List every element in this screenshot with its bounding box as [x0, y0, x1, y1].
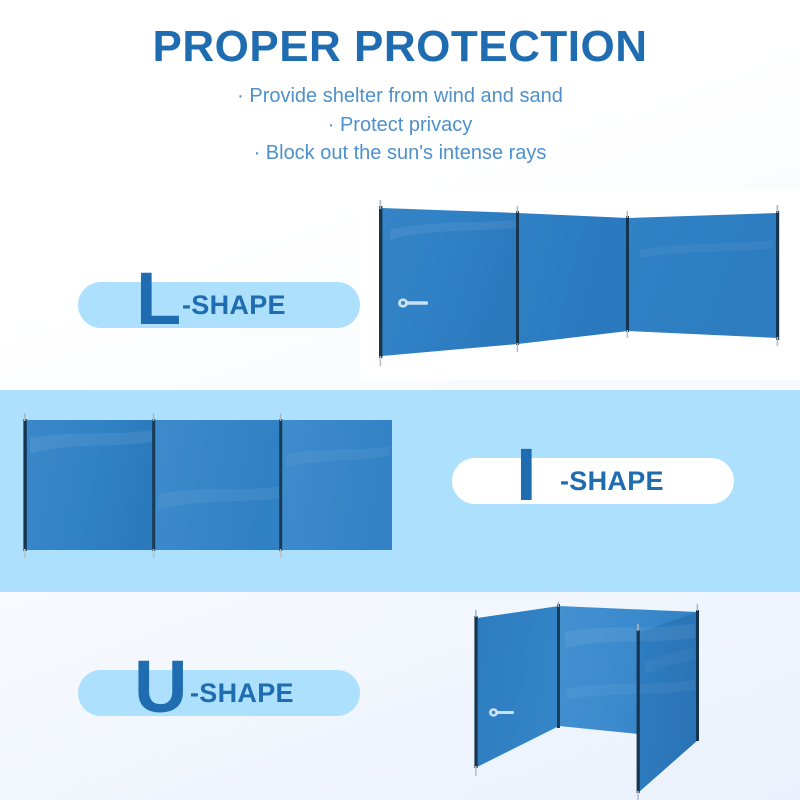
feature-bullets: · Provide shelter from wind and sand · P… [0, 70, 800, 167]
panel-right [628, 213, 778, 338]
product-image-i-shape [8, 402, 408, 580]
badge-l-shape-text: L -SHAPE [138, 290, 286, 321]
shape-letter-l: L [136, 262, 181, 336]
pole [516, 211, 519, 345]
badge-u-shape-text: U -SHAPE [138, 678, 294, 709]
shape-letter-u: U [134, 650, 187, 724]
pole [23, 419, 26, 551]
pole [776, 211, 779, 340]
section-l-shape: L -SHAPE [0, 190, 800, 390]
shape-suffix-u: -SHAPE [190, 678, 294, 709]
product-image-u-shape [455, 602, 800, 800]
pole [696, 610, 699, 741]
panel-left [477, 606, 559, 767]
bullet-item: · Block out the sun's intense rays [0, 139, 800, 167]
pole [557, 604, 560, 728]
shape-letter-i: I [516, 438, 537, 512]
product-image-l-shape [360, 190, 800, 380]
shape-suffix-i: -SHAPE [560, 466, 664, 497]
page-title: PROPER PROTECTION [0, 0, 800, 70]
pole [626, 216, 629, 332]
bullet-item: · Provide shelter from wind and sand [0, 82, 800, 110]
infographic-page: PROPER PROTECTION · Provide shelter from… [0, 0, 800, 800]
panel-right [282, 420, 392, 550]
section-u-shape: U -SHAPE [0, 592, 800, 800]
badge-i-shape-text: I -SHAPE [512, 466, 664, 497]
pole [637, 630, 640, 793]
pole [474, 616, 477, 768]
badge-u-shape: U -SHAPE [78, 670, 360, 716]
pole [279, 419, 282, 551]
pole [152, 419, 155, 551]
panel-center [155, 420, 281, 550]
section-i-shape: I -SHAPE [0, 390, 800, 592]
header: PROPER PROTECTION · Provide shelter from… [0, 0, 800, 190]
bullet-item: · Protect privacy [0, 111, 800, 139]
badge-i-shape: I -SHAPE [452, 458, 734, 504]
badge-l-shape: L -SHAPE [78, 282, 360, 328]
panel-center [518, 213, 628, 344]
shape-suffix-l: -SHAPE [182, 290, 286, 321]
pole [379, 206, 382, 358]
